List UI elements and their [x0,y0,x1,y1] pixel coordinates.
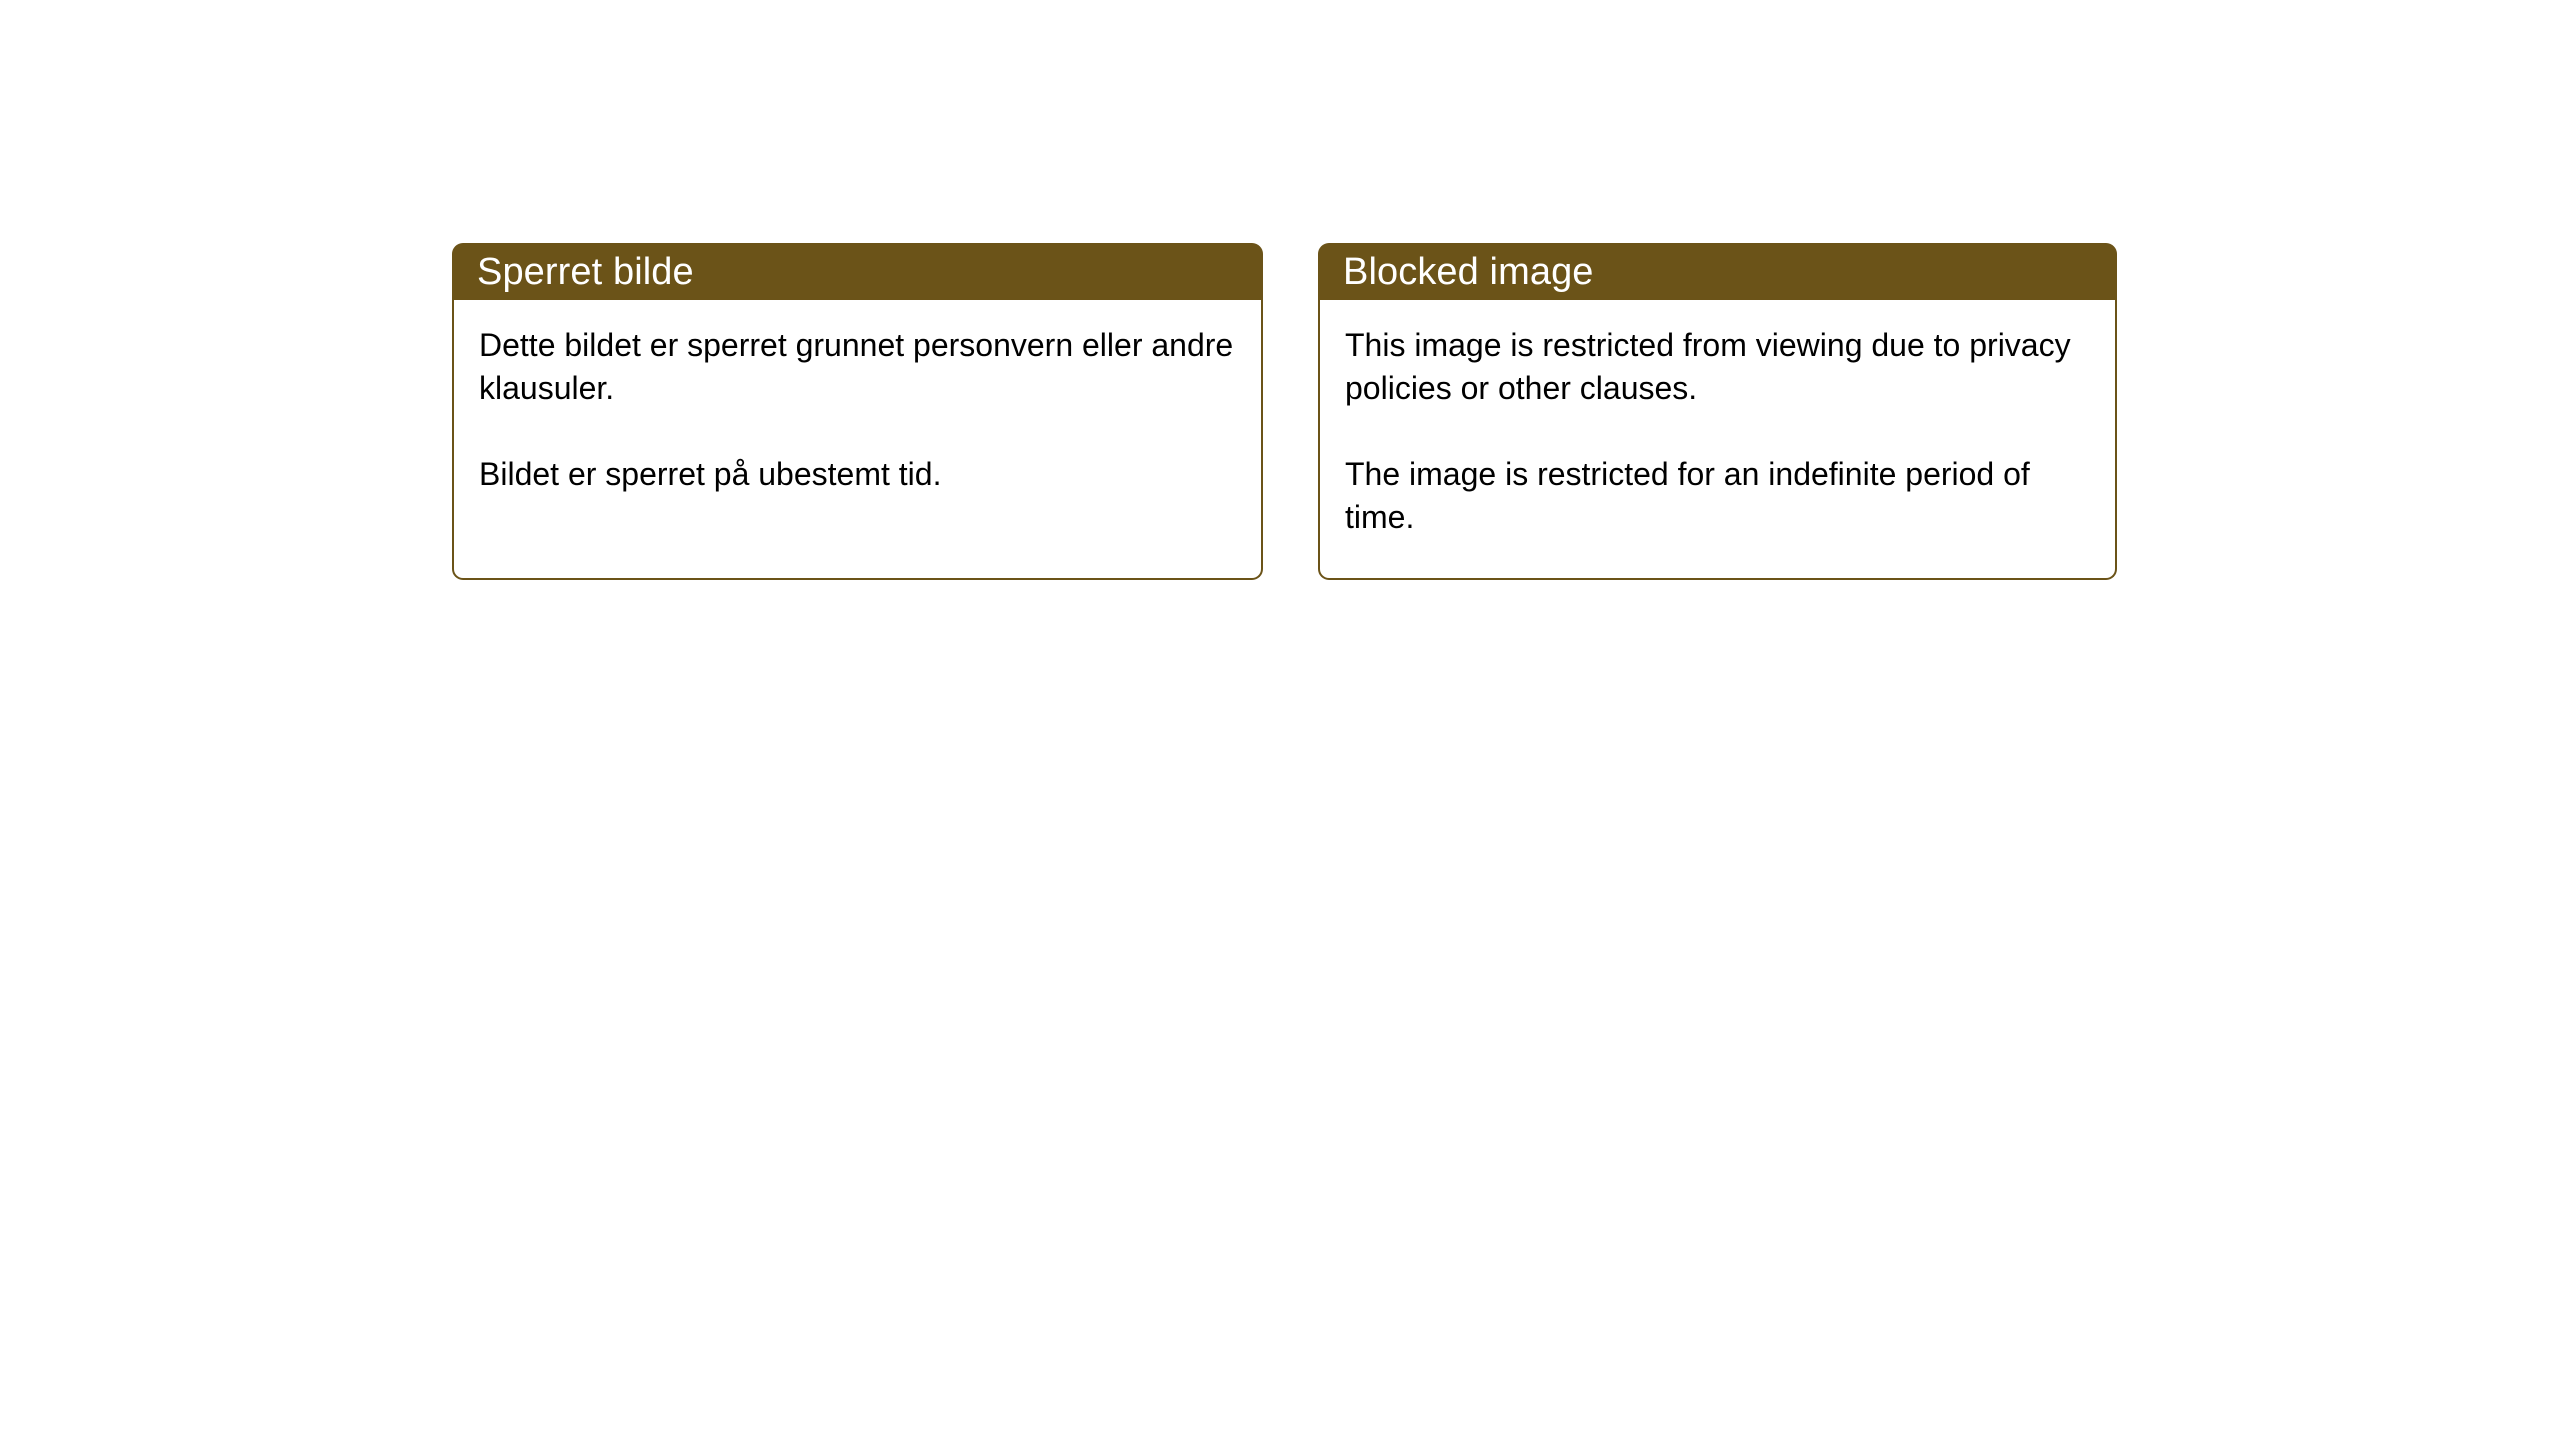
blocked-image-card-norwegian: Sperret bilde Dette bildet er sperret gr… [452,243,1263,580]
card-paragraph-english-1: This image is restricted from viewing du… [1345,324,2089,410]
card-paragraph-norwegian-2: Bildet er sperret på ubestemt tid. [479,453,1235,496]
blocked-image-card-english: Blocked image This image is restricted f… [1318,243,2117,580]
card-body-english: This image is restricted from viewing du… [1318,300,2117,580]
blocked-image-notice-area: Sperret bilde Dette bildet er sperret gr… [452,243,2117,580]
card-header-english: Blocked image [1318,243,2117,300]
card-title-norwegian: Sperret bilde [477,251,694,293]
card-paragraph-norwegian-1: Dette bildet er sperret grunnet personve… [479,324,1235,410]
card-header-norwegian: Sperret bilde [452,243,1263,300]
card-paragraph-english-2: The image is restricted for an indefinit… [1345,453,2089,539]
card-title-english: Blocked image [1343,251,1594,293]
card-body-norwegian: Dette bildet er sperret grunnet personve… [452,300,1263,580]
